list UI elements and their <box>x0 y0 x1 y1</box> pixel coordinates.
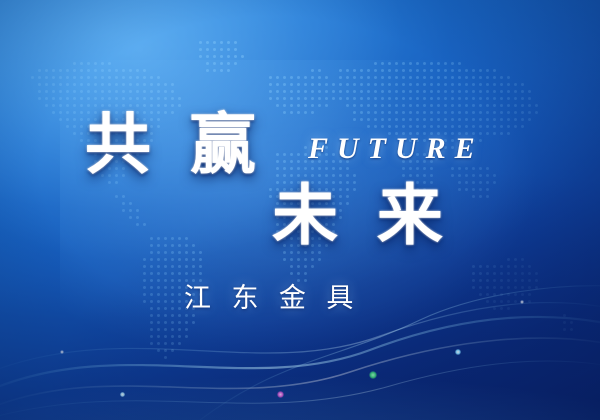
headline-line-1: 共 赢 <box>85 112 264 178</box>
banner-text-layer: 共 赢 FUTURE 未 来 江 东 金 具 <box>0 0 600 420</box>
latin-word-future: FUTURE <box>308 132 484 166</box>
company-subtitle: 江 东 金 具 <box>184 276 359 315</box>
promotional-banner: 共 赢 FUTURE 未 来 江 东 金 具 <box>0 0 600 420</box>
headline-line-2: 未 来 <box>272 183 451 249</box>
